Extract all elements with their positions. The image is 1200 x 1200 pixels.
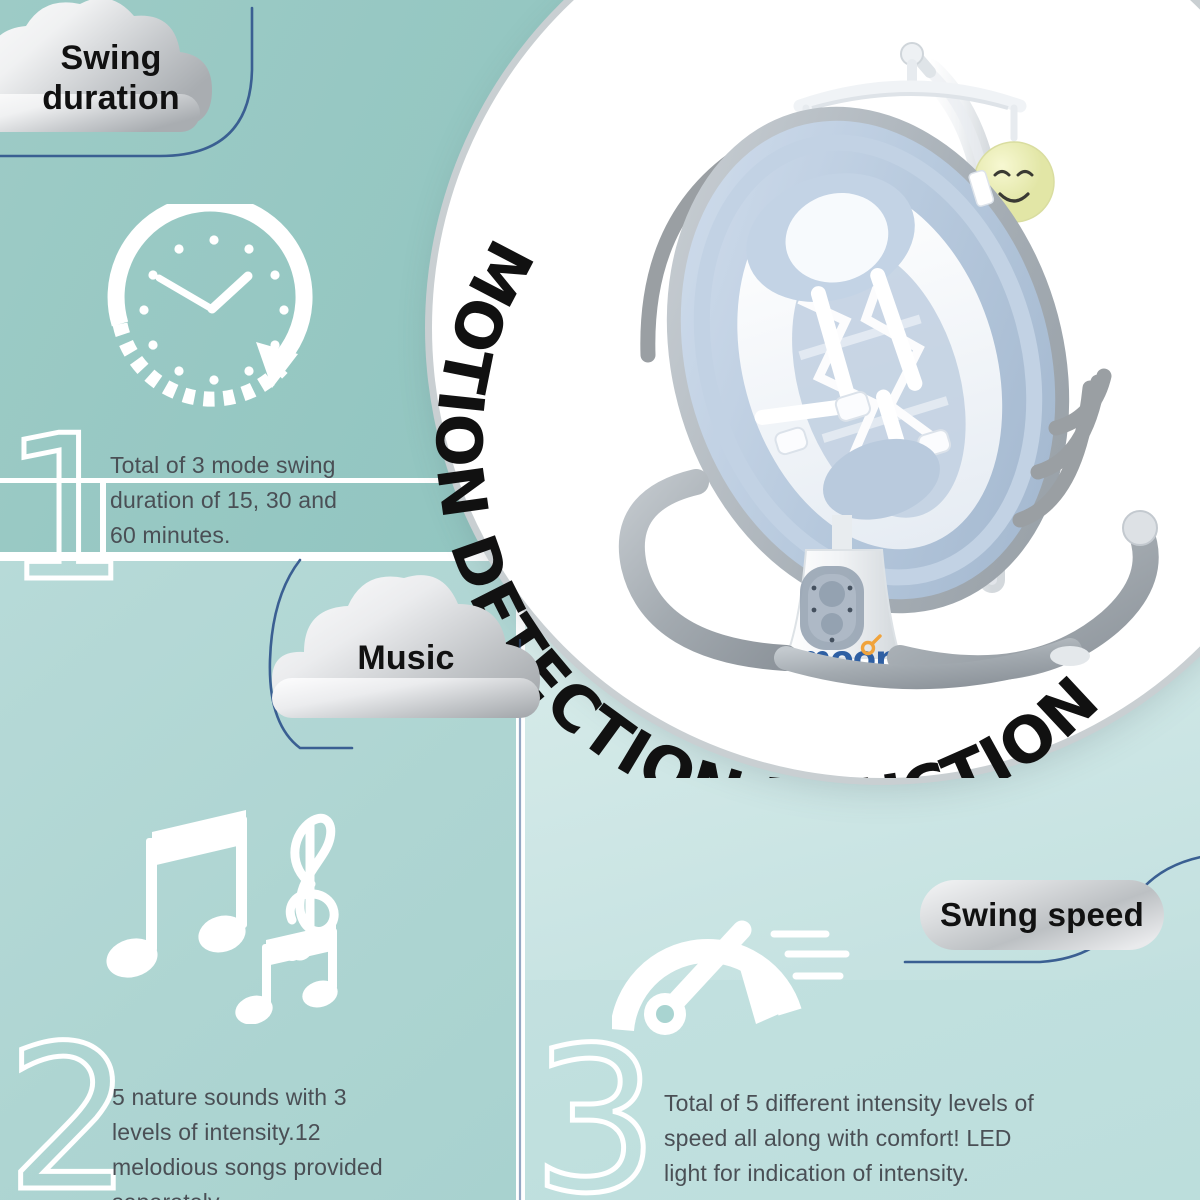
control-panel [800,566,864,650]
section-body-1: Total of 3 mode swing duration of 15, 30… [110,448,354,553]
badge-music-label: Music [272,638,540,678]
clock-icon [106,204,322,416]
badge-swing-speed-label: Swing speed [918,896,1166,935]
product-image-baby-swing: moon [600,10,1160,710]
speed-lines [774,934,846,976]
music-notes-icon [96,762,376,1024]
badge-swing-duration-label: Swing duration [6,38,216,118]
section-number-3: 3 [532,1022,659,1200]
section-body-3: Total of 5 different intensity levels of… [664,1086,1056,1191]
infographic-canvas: MOTION DETECTION FUNCTION [0,0,1200,1200]
section-body-2: 5 nature sounds with 3 levels of intensi… [112,1080,412,1200]
